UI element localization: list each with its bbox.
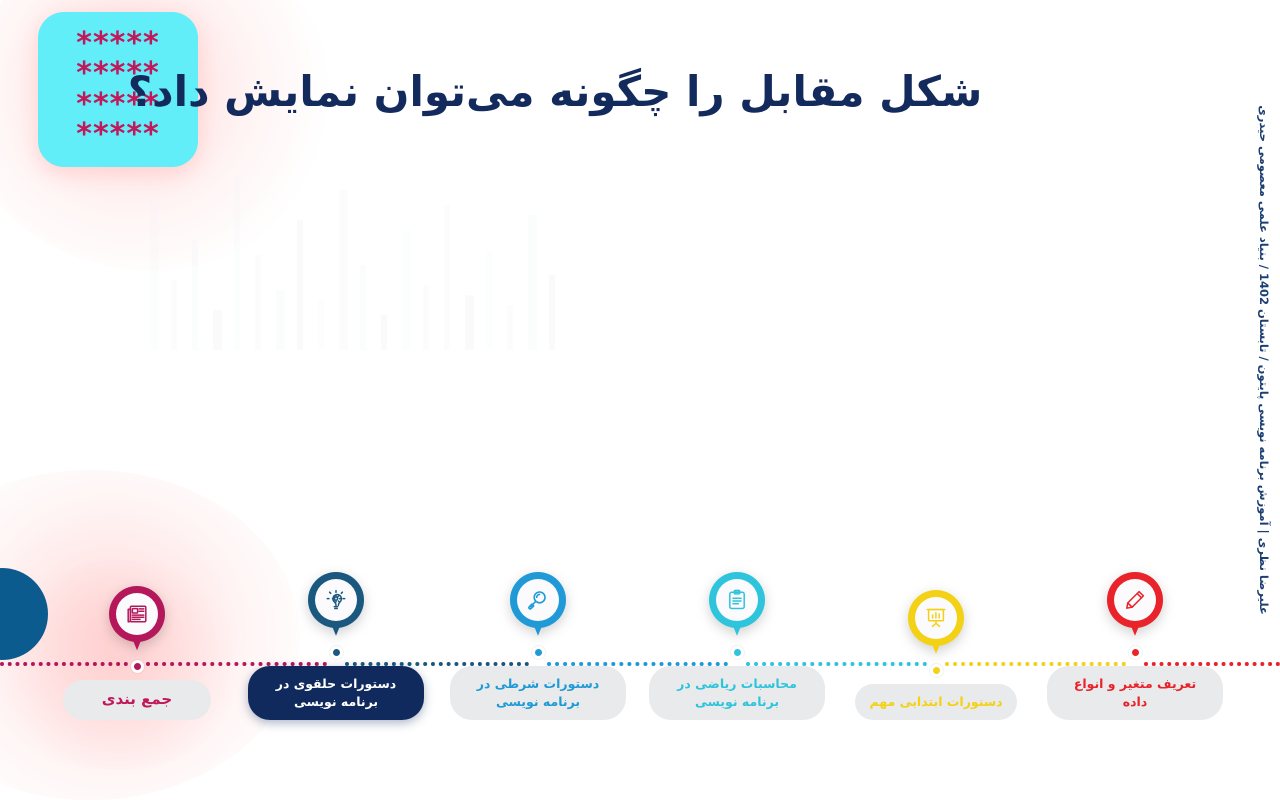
lightbulb-gear-icon: [315, 579, 357, 621]
timeline-pin-marker[interactable]: [510, 572, 566, 642]
timeline-node-dot[interactable]: [131, 660, 144, 673]
star-row: *****: [76, 30, 159, 59]
timeline-step[interactable]: دستورات حلقوی در برنامه نویسی: [246, 572, 426, 720]
timeline-step[interactable]: جمع بندی: [47, 586, 227, 720]
slide-title: شکل مقابل را چگونه می‌توان نمایش داد؟: [0, 66, 1280, 119]
background-bar-watermark: [150, 150, 580, 350]
timeline-pin-marker[interactable]: [908, 590, 964, 660]
credit-text: علیرضا نظری | آموزش برنامه نویسی پایتون …: [1257, 105, 1271, 615]
timeline-step[interactable]: محاسبات ریاضی در برنامه نویسی: [647, 572, 827, 720]
timeline-step-label[interactable]: دستورات شرطی در برنامه نویسی: [450, 666, 626, 720]
newspaper-icon: [116, 593, 158, 635]
timeline-pin-marker[interactable]: [109, 586, 165, 656]
magnifier-icon: [517, 579, 559, 621]
timeline-node-dot[interactable]: [731, 646, 744, 659]
timeline-step[interactable]: دستورات شرطی در برنامه نویسی: [448, 572, 628, 720]
timeline-step[interactable]: تعریف متغیر و انواع داده: [1045, 572, 1225, 720]
timeline-pin-marker[interactable]: [308, 572, 364, 642]
timeline-nav: جمع بندیدستورات حلقوی در برنامه نویسیدست…: [0, 570, 1280, 720]
timeline-step[interactable]: دستورات ابتدایی مهم: [846, 590, 1026, 720]
timeline-pin-marker[interactable]: [709, 572, 765, 642]
timeline-node-dot[interactable]: [330, 646, 343, 659]
timeline-node-dot[interactable]: [532, 646, 545, 659]
star-row: *****: [76, 121, 159, 150]
timeline-step-label[interactable]: دستورات حلقوی در برنامه نویسی: [248, 666, 424, 720]
pencil-icon: [1114, 579, 1156, 621]
presentation-chart-icon: [915, 597, 957, 639]
timeline-node-dot[interactable]: [930, 664, 943, 677]
timeline-node-dot[interactable]: [1129, 646, 1142, 659]
timeline-step-label[interactable]: محاسبات ریاضی در برنامه نویسی: [649, 666, 825, 720]
clipboard-icon: [716, 579, 758, 621]
timeline-pin-marker[interactable]: [1107, 572, 1163, 642]
timeline-step-label[interactable]: تعریف متغیر و انواع داده: [1047, 666, 1223, 720]
timeline-step-label[interactable]: دستورات ابتدایی مهم: [855, 684, 1016, 720]
timeline-step-label[interactable]: جمع بندی: [63, 680, 211, 720]
